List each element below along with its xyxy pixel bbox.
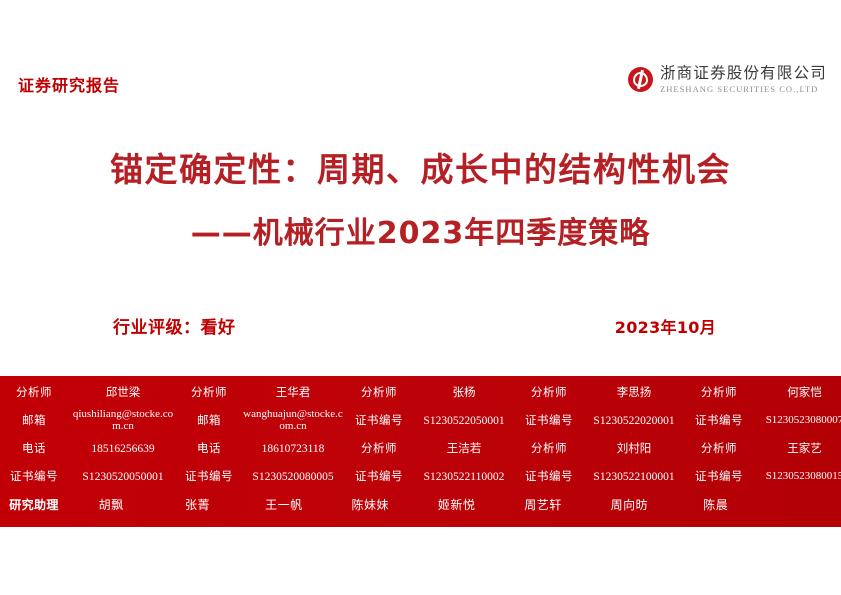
table-row: 电话18516256639电话18610723118分析师王洁若分析师刘村阳分析… <box>0 435 841 463</box>
table-cell-label: 证书编号 <box>516 407 582 435</box>
table-cell-label: 分析师 <box>516 379 582 407</box>
research-assistant-name: 胡飘 <box>68 496 154 513</box>
research-assistants-label: 研究助理 <box>0 496 68 513</box>
table-cell-label: 证书编号 <box>178 463 240 491</box>
company-brand: 浙商证券股份有限公司 ZHESHANG SECURITIES CO.,LTD <box>628 66 827 93</box>
table-cell-value: 18610723118 <box>240 435 346 463</box>
table-cell-label: 分析师 <box>686 435 752 463</box>
table-cell-label: 证书编号 <box>0 463 68 491</box>
report-type-kicker: 证券研究报告 <box>18 72 120 96</box>
table-cell-value: S1230520080005 <box>240 463 346 491</box>
table-cell-label: 证书编号 <box>516 463 582 491</box>
table-cell-value: 李思扬 <box>582 379 686 407</box>
table-cell-label: 分析师 <box>346 379 412 407</box>
table-cell-label: 电话 <box>0 435 68 463</box>
table-cell-value: wanghuajun@stocke.com.cn <box>240 407 346 435</box>
table-row: 邮箱qiushiliang@stocke.com.cn邮箱wanghuajun@… <box>0 407 841 435</box>
analyst-info-band: 分析师邱世梁分析师王华君分析师张杨分析师李思扬分析师何家恺邮箱qiushilia… <box>0 376 841 527</box>
table-cell-label: 证书编号 <box>686 463 752 491</box>
table-cell-value: S1230522020001 <box>582 407 686 435</box>
table-row: 证书编号S1230520050001证书编号S1230520080005证书编号… <box>0 463 841 491</box>
table-cell-value: 18516256639 <box>68 435 178 463</box>
table-cell-value: 王华君 <box>240 379 346 407</box>
research-assistant-name: 陈晨 <box>673 496 759 513</box>
cover-page: 证券研究报告 浙商证券股份有限公司 ZHESHANG SECURITIES CO… <box>0 0 841 595</box>
page-subtitle: ——机械行业2023年四季度策略 <box>0 208 841 252</box>
brand-name-chinese: 浙商证券股份有限公司 <box>660 66 827 82</box>
table-cell-value: S1230520050001 <box>68 463 178 491</box>
table-cell-value: 王家艺 <box>752 435 841 463</box>
analyst-table-body: 分析师邱世梁分析师王华君分析师张杨分析师李思扬分析师何家恺邮箱qiushilia… <box>0 379 841 491</box>
assistants-row-spacer <box>759 496 841 513</box>
table-cell-label: 证书编号 <box>346 463 412 491</box>
table-cell-label: 电话 <box>178 435 240 463</box>
table-cell-value: S1230522050001 <box>412 407 516 435</box>
research-assistant-name: 王一帆 <box>241 496 327 513</box>
table-cell-value: 张杨 <box>412 379 516 407</box>
table-cell-value: 邱世梁 <box>68 379 178 407</box>
report-date: 2023年10月 <box>615 314 716 338</box>
research-assistant-name: 陈妹妹 <box>327 496 413 513</box>
research-assistants-names: 胡飘张菁王一帆陈妹妹姬新悦周艺轩周向昉陈晨 <box>68 496 841 513</box>
table-cell-label: 分析师 <box>0 379 68 407</box>
industry-rating: 行业评级：看好 <box>113 313 236 338</box>
brand-text-block: 浙商证券股份有限公司 ZHESHANG SECURITIES CO.,LTD <box>660 66 827 93</box>
table-cell-value: qiushiliang@stocke.com.cn <box>68 407 178 435</box>
page-title: 锚定确定性：周期、成长中的结构性机会 <box>0 143 841 191</box>
research-assistants-row: 研究助理 胡飘张菁王一帆陈妹妹姬新悦周艺轩周向昉陈晨 <box>0 496 841 513</box>
table-cell-label: 分析师 <box>686 379 752 407</box>
table-cell-label: 证书编号 <box>686 407 752 435</box>
zheshang-logo-icon <box>628 67 653 92</box>
research-assistant-name: 周向昉 <box>586 496 672 513</box>
table-cell-label: 证书编号 <box>346 407 412 435</box>
table-cell-value: S1230522100001 <box>582 463 686 491</box>
research-assistant-name: 姬新悦 <box>414 496 500 513</box>
table-cell-label: 分析师 <box>516 435 582 463</box>
table-cell-value: 何家恺 <box>752 379 841 407</box>
table-cell-label: 分析师 <box>346 435 412 463</box>
research-assistant-name: 周艺轩 <box>500 496 586 513</box>
table-cell-value: S1230523080015 <box>752 463 841 491</box>
analyst-table: 分析师邱世梁分析师王华君分析师张杨分析师李思扬分析师何家恺邮箱qiushilia… <box>0 379 841 491</box>
table-row: 分析师邱世梁分析师王华君分析师张杨分析师李思扬分析师何家恺 <box>0 379 841 407</box>
table-cell-label: 邮箱 <box>0 407 68 435</box>
brand-name-english: ZHESHANG SECURITIES CO.,LTD <box>660 85 827 94</box>
table-cell-label: 邮箱 <box>178 407 240 435</box>
table-cell-value: S1230522110002 <box>412 463 516 491</box>
table-cell-value: S1230523080007 <box>752 407 841 435</box>
research-assistant-name: 张菁 <box>154 496 240 513</box>
table-cell-label: 分析师 <box>178 379 240 407</box>
table-cell-value: 刘村阳 <box>582 435 686 463</box>
table-cell-value: 王洁若 <box>412 435 516 463</box>
